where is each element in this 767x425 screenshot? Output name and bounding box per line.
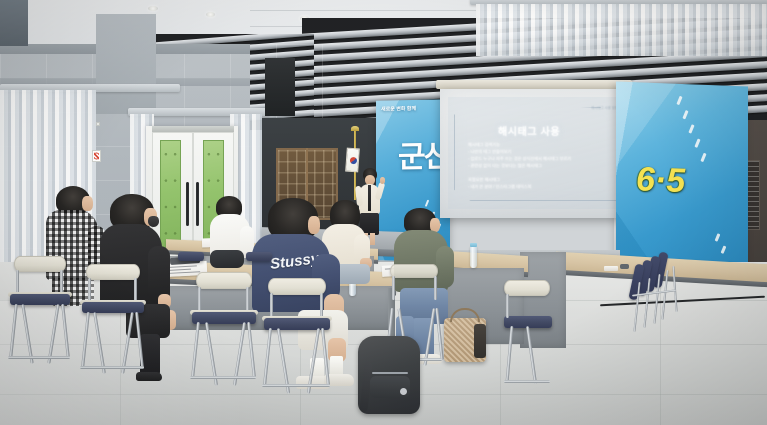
- presenter-hand: [380, 177, 385, 184]
- attendee4-ear: [308, 216, 320, 234]
- folding-chair[interactable]: [78, 264, 152, 382]
- curtain-upper-right: [476, 4, 767, 56]
- slide-line-2: - 업로드 누구나 자주 쓰는 것은 상식선에서 해시태그 부르기: [468, 156, 571, 162]
- wall-column: [96, 14, 156, 114]
- table-bag[interactable]: [210, 250, 244, 268]
- slide-line-1: - 나만의 태그 만들어보기: [468, 149, 511, 155]
- flag-finial: [351, 126, 359, 131]
- door-handle-right[interactable]: [196, 182, 199, 226]
- projection-screen: 해시태그 사용 방법 해시태그 사용 해시태그 검색기능 - 나만의 태그 만들…: [440, 89, 634, 218]
- back-chair-seat[interactable]: [178, 252, 204, 261]
- slide-line-5: 꼭필요한 해시태그: [468, 177, 500, 183]
- bottle-cap: [470, 243, 477, 247]
- back-chair-seat[interactable]: [246, 252, 272, 261]
- slide-title: 해시태그 사용: [498, 123, 560, 138]
- downlight-icon: [206, 12, 215, 17]
- backpack-logo-icon: [400, 388, 407, 395]
- downlight-icon: [148, 6, 158, 11]
- slide-canvas: 해시태그 사용 방법 해시태그 사용 해시태그 검색기능 - 나만의 태그 만들…: [448, 97, 626, 209]
- folding-chair[interactable]: [188, 272, 266, 392]
- slide-corner-note: 해시태그 사용 방법: [591, 105, 618, 110]
- folding-chair[interactable]: [490, 280, 550, 388]
- projector-screen-roller: [436, 80, 632, 89]
- handbag[interactable]: [444, 318, 486, 362]
- slide-line-3: - 관련성 없이 다는 것보다는 많은 해시태그: [468, 163, 542, 169]
- backpack-zipper: [372, 372, 408, 374]
- door-handle-left[interactable]: [186, 182, 189, 226]
- presenter-arm-raised: [375, 182, 386, 201]
- wall-outlet-icon: [96, 122, 100, 126]
- table-item-paper: [604, 266, 618, 271]
- banner-left-logo: 새로운 변화 함께: [381, 105, 416, 113]
- attendee1-face: [82, 196, 93, 211]
- folding-chair[interactable]: [6, 256, 80, 372]
- banner-right-number: 6·5: [636, 160, 685, 201]
- slide-line-0: 해시태그 검색기능: [468, 142, 500, 148]
- door-transom: [152, 126, 234, 132]
- stacked-chairs-group: [626, 252, 690, 304]
- wall-glass: [0, 0, 28, 46]
- backpack[interactable]: [358, 336, 420, 414]
- speaker-icon: [265, 58, 295, 116]
- no-smoking-icon: [92, 150, 101, 162]
- handbag-side-panel: [474, 324, 486, 358]
- attendee2-face-mask: [148, 216, 159, 227]
- water-bottle[interactable]: [470, 246, 477, 268]
- slide-line-6: - 내가 쓴 분야 / 인스타그램 데이스북: [468, 184, 531, 190]
- folding-chair[interactable]: [262, 278, 342, 400]
- seminar-room-photo: 새로운 변화 함께 군산 해시태그 사용 방법 해시태그 사용 해시태그 검색기…: [0, 0, 767, 425]
